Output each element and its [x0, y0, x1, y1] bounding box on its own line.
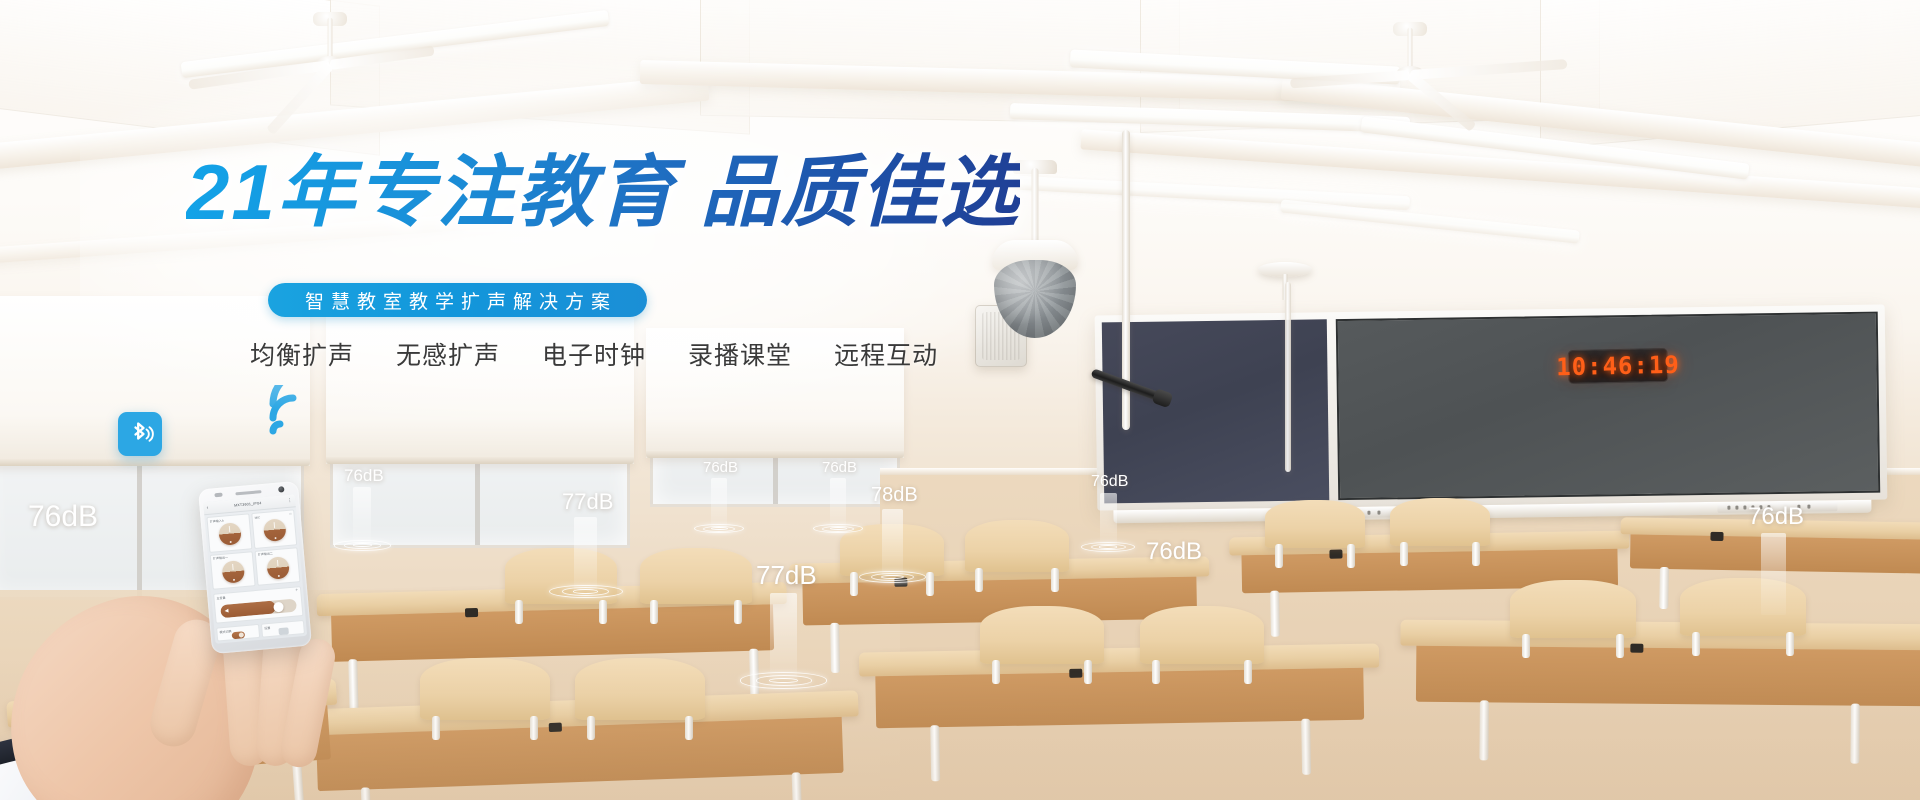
- db-label: 76dB: [1091, 473, 1128, 491]
- channel-sub: ⊡: [289, 512, 291, 515]
- feature-item-0: 均衡扩声: [250, 336, 354, 372]
- channel-label: MIC: [254, 515, 260, 519]
- footer-label: 设置: [264, 625, 270, 630]
- channel-card[interactable]: MIC ⊡: [251, 509, 297, 548]
- page-title: 21年专注教育 品质佳选: [186, 150, 1020, 234]
- feature-item-1: 无感扩声: [396, 336, 500, 372]
- mode-switch-button[interactable]: 模式切换: [216, 624, 260, 642]
- back-icon[interactable]: ‹: [206, 505, 208, 510]
- clock-time: 10:46:19: [1556, 351, 1680, 382]
- sound-ripple: [881, 575, 903, 579]
- student-chair: [640, 548, 752, 604]
- db-label: 77dB: [562, 489, 613, 515]
- channel-label: 扩声输出一: [213, 555, 228, 560]
- rotary-knob[interactable]: [262, 519, 286, 543]
- rotary-knob[interactable]: [266, 556, 290, 580]
- settings-button[interactable]: 设置: [261, 620, 305, 638]
- student-chair: [1265, 500, 1365, 548]
- ceiling-light: [1280, 199, 1580, 243]
- front-camera: [278, 486, 285, 493]
- interactive-display: [1336, 312, 1881, 501]
- db-label: 77dB: [756, 560, 817, 591]
- blackboard: [1095, 304, 1888, 510]
- slider-handle[interactable]: [273, 601, 284, 612]
- earpiece-speaker: [235, 490, 261, 495]
- student-desk: [859, 643, 1381, 782]
- student-chair: [965, 520, 1069, 572]
- speaker-icon: ◀: [224, 608, 228, 613]
- db-label: 76dB: [1146, 538, 1202, 566]
- blackboard-left-panel: [1102, 319, 1330, 503]
- menu-icon[interactable]: ⋮: [287, 498, 292, 503]
- db-label: 76dB: [703, 459, 738, 476]
- channel-card[interactable]: 扩声输出二: [255, 547, 301, 586]
- phone-screen[interactable]: ‹ MXT3601_IP04 ⋮ 扩声输入A MIC ⊡ 扩声输出一: [203, 494, 307, 643]
- db-label: 76dB: [344, 466, 384, 486]
- sound-ripple: [1099, 545, 1117, 549]
- student-desk: [1399, 620, 1920, 765]
- bluetooth-icon: [118, 412, 162, 456]
- smartphone[interactable]: ‹ MXT3601_IP04 ⋮ 扩声输入A MIC ⊡ 扩声输出一: [198, 481, 312, 654]
- channel-card-grid: 扩声输入A MIC ⊡ 扩声输出一 扩声输出二: [204, 507, 302, 592]
- subtitle-text: 智慧教室教学扩声解决方案: [298, 287, 617, 314]
- master-volume-card[interactable]: 主音量 + ◀: [213, 586, 303, 624]
- student-chair: [840, 524, 944, 576]
- footer-label: 模式切换: [219, 629, 231, 634]
- student-chair: [1390, 498, 1490, 546]
- add-icon[interactable]: +: [295, 588, 298, 593]
- rotary-knob[interactable]: [221, 560, 245, 584]
- volume-label: 主音量: [216, 595, 225, 600]
- channel-card[interactable]: 扩声输入A: [206, 513, 252, 552]
- microphone-pole: [1285, 282, 1291, 472]
- student-desk: [1619, 517, 1920, 613]
- rotary-knob[interactable]: [218, 522, 242, 546]
- app-title: MXT3601_IP04: [234, 501, 262, 507]
- channel-label: 扩声输出二: [258, 551, 273, 556]
- channel-card[interactable]: 扩声输出一: [210, 551, 256, 590]
- sound-ripple: [573, 589, 598, 594]
- db-label: 76dB: [1748, 503, 1804, 531]
- hero-banner: 10:46:19: [0, 0, 1920, 800]
- toggle-pill[interactable]: [232, 631, 246, 639]
- volume-slider[interactable]: ◀: [220, 599, 297, 619]
- wifi-signal-icon: [265, 385, 323, 437]
- subtitle-pill: 智慧教室教学扩声解决方案: [268, 283, 647, 317]
- feature-item-4: 远程互动: [834, 336, 938, 372]
- proximity-sensor: [214, 493, 222, 498]
- electronic-clock: 10:46:19: [1568, 348, 1669, 384]
- feature-item-2: 电子时钟: [542, 336, 646, 372]
- db-label: 78dB: [871, 484, 918, 507]
- channel-label: 扩声输入A: [210, 518, 224, 523]
- student-chair: [980, 606, 1104, 664]
- feature-list: 均衡扩声 无感扩声 电子时钟 录播课堂 远程互动: [250, 336, 938, 372]
- feature-item-3: 录播课堂: [688, 336, 792, 372]
- student-chair: [575, 658, 705, 720]
- db-label: 76dB: [822, 459, 857, 476]
- settings-tile[interactable]: [278, 627, 289, 635]
- student-chair: [1510, 580, 1636, 638]
